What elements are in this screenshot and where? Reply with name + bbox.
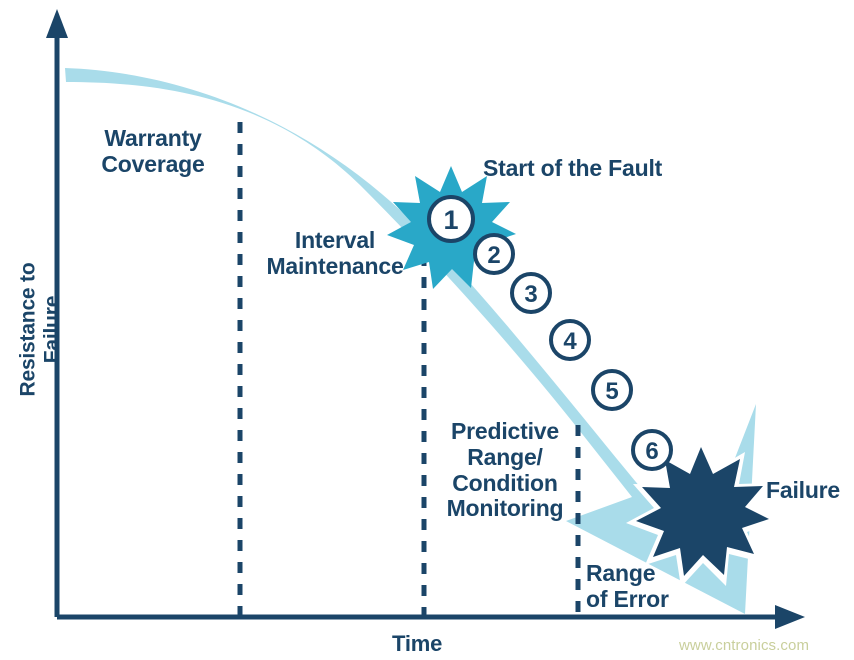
label-start-of-the-fault: Start of the Fault: [483, 156, 662, 182]
stage-marker-4[interactable]: 4: [551, 321, 589, 359]
watermark-text: www.cntronics.com: [679, 637, 809, 654]
label-warranty-coverage: Warranty Coverage: [88, 126, 218, 178]
label-range-of-error: Range of Error: [586, 561, 716, 613]
stage-marker-3[interactable]: 3: [512, 274, 550, 312]
x-axis-arrowhead: [775, 605, 805, 629]
label-interval-maintenance: Interval Maintenance: [250, 228, 420, 280]
stage-marker-label: 3: [524, 281, 537, 308]
label-predictive-range-condition-monitoring: Predictive Range/ Condition Monitoring: [432, 419, 578, 522]
stage-marker-label: 4: [563, 328, 577, 355]
pf-curve-svg: 1 2 3 4 5 6: [0, 0, 854, 660]
stage-marker-2[interactable]: 2: [475, 235, 513, 273]
stage-marker-label: 5: [605, 378, 618, 405]
y-axis-label: Resistance to Failure: [16, 230, 63, 430]
stage-marker-6[interactable]: 6: [633, 431, 671, 469]
diagram-canvas: 1 2 3 4 5 6 Warranty Cov: [0, 0, 854, 660]
stage-marker-label: 1: [443, 205, 458, 235]
x-axis-label: Time: [392, 632, 442, 657]
y-axis-arrowhead: [46, 9, 68, 38]
divider-lines: [240, 122, 578, 617]
stage-marker-label: 6: [645, 438, 658, 465]
stage-marker-1[interactable]: 1: [429, 197, 473, 241]
stage-marker-label: 2: [487, 242, 500, 269]
label-failure: Failure: [766, 478, 840, 504]
stage-marker-5[interactable]: 5: [593, 371, 631, 409]
